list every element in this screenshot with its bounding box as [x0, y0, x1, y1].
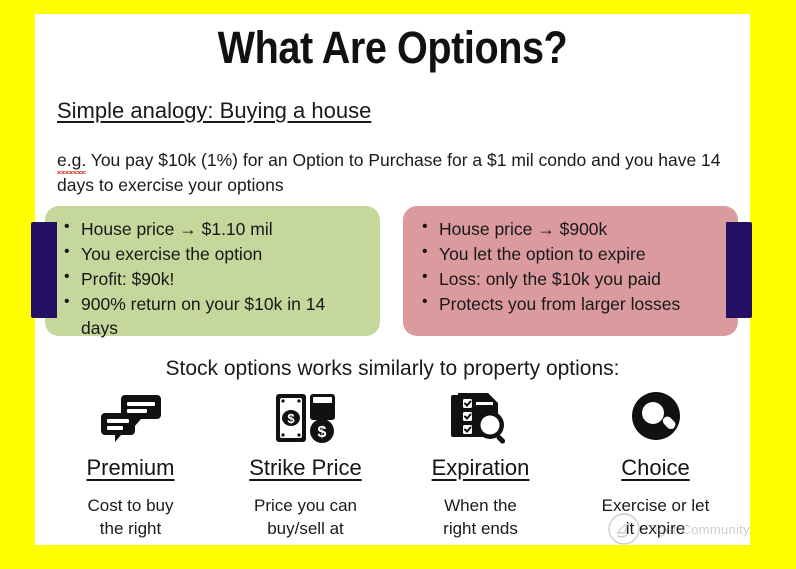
- checklist-magnifier-icon: [393, 389, 568, 447]
- feature-label: Expiration: [393, 455, 568, 481]
- list-item: Loss: only the $10k you paid: [417, 267, 724, 292]
- feature-desc-line: Cost to buy: [43, 495, 218, 518]
- feature-desc-line: the right: [43, 518, 218, 541]
- expire-outcome-list: House price → $900k You let the option t…: [417, 217, 724, 316]
- feature-desc-line: right ends: [393, 518, 568, 541]
- list-item: You exercise the option: [59, 242, 366, 267]
- list-item: You let the option to expire: [417, 242, 724, 267]
- navy-accent-left: [31, 222, 57, 318]
- misspelled-word: e.g.: [57, 148, 86, 173]
- feature-desc-line: it expire: [568, 518, 743, 541]
- feature-label: Strike Price: [218, 455, 393, 481]
- feature-expiration: Expiration When the right ends: [393, 389, 568, 540]
- svg-text:$: $: [317, 424, 326, 441]
- example-paragraph: e.g. You pay $10k (1%) for an Option to …: [57, 148, 747, 198]
- outcome-box-row: House price → $1.10 mil You exercise the…: [35, 206, 750, 342]
- slide-canvas: What Are Options? Simple analogy: Buying…: [0, 0, 796, 569]
- feature-desc-line: buy/sell at: [218, 518, 393, 541]
- feature-description: Price you can buy/sell at: [218, 495, 393, 540]
- magnifier-circle-icon: [568, 389, 743, 447]
- slide-content-card: What Are Options? Simple analogy: Buying…: [35, 14, 750, 545]
- list-item: Protects you from larger losses: [417, 292, 724, 317]
- feature-label: Choice: [568, 455, 743, 481]
- feature-desc-line: Exercise or let: [568, 495, 743, 518]
- page-title: What Are Options?: [78, 22, 707, 74]
- navy-accent-right: [726, 222, 752, 318]
- exercise-outcome-list: House price → $1.10 mil You exercise the…: [59, 217, 366, 341]
- section-subheading: Simple analogy: Buying a house: [57, 98, 371, 124]
- feature-strike-price: $ $ Strike Price Price you can buy/sell …: [218, 389, 393, 540]
- example-body: You pay $10k (1%) for an Option to Purch…: [57, 150, 721, 195]
- feature-choice: Choice Exercise or let it expire: [568, 389, 743, 540]
- list-item: House price → $1.10 mil: [59, 217, 366, 242]
- feature-premium: Premium Cost to buy the right: [43, 389, 218, 540]
- list-item: 900% return on your $10k in 14 days: [59, 292, 366, 342]
- feature-description: Cost to buy the right: [43, 495, 218, 540]
- feature-description: Exercise or let it expire: [568, 495, 743, 540]
- feature-row: Premium Cost to buy the right: [43, 389, 743, 540]
- feature-desc-line: Price you can: [218, 495, 393, 518]
- banknote-calculator-icon: $ $: [218, 389, 393, 447]
- expire-outcome-box: House price → $900k You let the option t…: [403, 206, 738, 336]
- stock-options-heading: Stock options works similarly to propert…: [35, 357, 750, 381]
- exercise-outcome-box: House price → $1.10 mil You exercise the…: [45, 206, 380, 336]
- list-item: House price → $900k: [417, 217, 724, 242]
- feature-description: When the right ends: [393, 495, 568, 540]
- list-item: Profit: $90k!: [59, 267, 366, 292]
- feature-desc-line: When the: [393, 495, 568, 518]
- speech-bubbles-icon: [43, 389, 218, 447]
- feature-label: Premium: [43, 455, 218, 481]
- svg-text:$: $: [287, 411, 295, 426]
